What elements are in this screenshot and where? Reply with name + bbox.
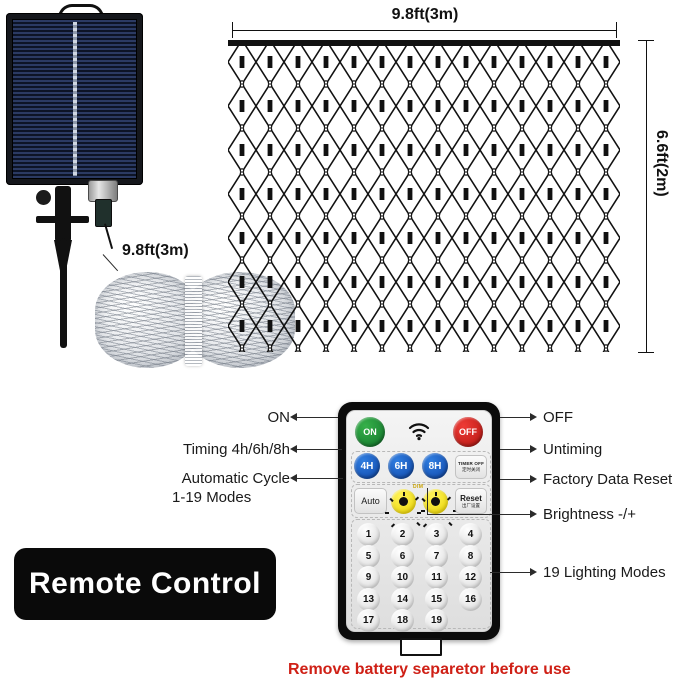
lighting-mode-button-11[interactable]: 11 xyxy=(425,566,448,589)
solar-panel xyxy=(6,13,143,185)
callout-on-arrow xyxy=(290,413,297,421)
callout-off-line xyxy=(500,417,532,418)
lighting-mode-button-label: 16 xyxy=(465,594,476,605)
sun-dim-down-icon xyxy=(399,497,408,506)
lighting-mode-button-19[interactable]: 19 xyxy=(425,609,448,632)
stake-pivot-knob xyxy=(36,190,51,205)
lighting-mode-button-label: 8 xyxy=(468,551,474,562)
callout-brightness-arrow xyxy=(530,510,537,518)
callout-brightness-vline xyxy=(427,488,428,514)
wifi-signal-icon xyxy=(407,421,431,441)
sun-dim-up-icon xyxy=(431,497,440,506)
lighting-mode-button-label: 11 xyxy=(431,572,442,583)
lighting-mode-button-5[interactable]: 5 xyxy=(357,545,380,568)
callout-brightness-line xyxy=(427,514,532,515)
lighting-mode-button-label: 3 xyxy=(434,529,440,540)
callout-auto-cycle-arrow xyxy=(290,474,297,482)
lighting-mode-button-label: 7 xyxy=(434,551,440,562)
lighting-mode-button-17[interactable]: 17 xyxy=(357,609,380,632)
lighting-mode-button-7[interactable]: 7 xyxy=(425,545,448,568)
timer-4h-label: 4H xyxy=(361,461,374,472)
lighting-mode-button-label: 15 xyxy=(431,594,442,605)
lighting-mode-button-label: 2 xyxy=(400,529,406,540)
lighting-mode-button-10[interactable]: 10 xyxy=(391,566,414,589)
lead-cable-length-label: 9.8ft(3m) xyxy=(122,242,189,260)
lighting-mode-button-12[interactable]: 12 xyxy=(459,566,482,589)
ground-stake-shaft xyxy=(55,186,71,242)
callout-factory-reset-line xyxy=(500,479,532,480)
callout-timing-arrow xyxy=(290,445,297,453)
lighting-mode-button-label: 6 xyxy=(400,551,406,562)
lighting-mode-button-label: 4 xyxy=(468,529,474,540)
lighting-mode-button-2[interactable]: 2 xyxy=(391,523,414,546)
lighting-mode-button-1[interactable]: 1 xyxy=(357,523,380,546)
lighting-mode-button-label: 9 xyxy=(366,572,372,583)
callout-brightness: Brightness -/+ xyxy=(543,506,636,525)
battery-separator-warning: Remove battery separetor before use xyxy=(288,661,571,679)
timer-off-label-cn: 定时关闭 xyxy=(462,468,480,473)
remote-control: ON OFF 4H 6H 8H xyxy=(338,402,500,640)
callout-factory-reset-arrow xyxy=(530,475,537,483)
auto-cycle-label: Auto xyxy=(361,496,380,506)
callout-lighting-modes-arrow xyxy=(530,568,537,576)
lighting-mode-button-label: 14 xyxy=(397,594,408,605)
led-net-light-mesh xyxy=(228,40,620,352)
lighting-mode-button-label: 13 xyxy=(363,594,374,605)
power-off-label: OFF xyxy=(459,427,477,437)
lighting-mode-button-label: 18 xyxy=(397,615,408,626)
callout-factory-reset: Factory Data Reset xyxy=(543,471,672,490)
timer-6h-button[interactable]: 6H xyxy=(388,453,414,479)
coil-tie-strap xyxy=(185,276,202,366)
callout-untiming-line xyxy=(500,449,532,450)
dim-group-label: DIM xyxy=(413,484,423,490)
lighting-mode-button-13[interactable]: 13 xyxy=(357,588,380,611)
lighting-mode-button-6[interactable]: 6 xyxy=(391,545,414,568)
timer-off-button[interactable]: TIMER OFF 定时关闭 xyxy=(455,455,487,479)
product-spec-diagram: 9.8ft(3m) 6.6ft(2m) 9.8ft(3m) xyxy=(0,0,679,686)
lighting-mode-button-label: 19 xyxy=(431,615,442,626)
callout-on-line xyxy=(296,417,338,418)
callout-auto-cycle-line xyxy=(296,478,343,479)
lighting-mode-button-9[interactable]: 9 xyxy=(357,566,380,589)
net-height-bottom-cap xyxy=(638,352,654,353)
remote-control-banner-label: Remote Control xyxy=(29,567,261,601)
callout-lighting-modes-line xyxy=(490,572,532,573)
callout-off: OFF xyxy=(543,409,573,428)
net-height-dimension-line xyxy=(646,40,647,352)
remote-control-banner: Remote Control xyxy=(14,548,276,620)
lighting-mode-button-3[interactable]: 3 xyxy=(425,523,448,546)
callout-auto-cycle-line1: Automatic Cycle xyxy=(182,470,290,487)
lighting-mode-button-label: 17 xyxy=(363,615,374,626)
ground-stake-spike xyxy=(60,238,67,348)
solar-panel-cells xyxy=(12,19,137,179)
auto-cycle-button[interactable]: Auto xyxy=(354,488,387,514)
lighting-mode-button-label: 5 xyxy=(366,551,372,562)
factory-reset-button[interactable]: Reset 出厂设置 xyxy=(455,488,487,514)
callout-lighting-modes: 19 Lighting Modes xyxy=(543,564,666,583)
callout-untiming-arrow xyxy=(530,445,537,453)
callout-auto-cycle: Automatic Cycle 1-19 Modes xyxy=(110,470,290,508)
remote-faceplate: ON OFF 4H 6H 8H xyxy=(346,410,492,632)
brightness-down-button[interactable] xyxy=(391,489,416,514)
lighting-mode-button-label: 12 xyxy=(465,572,476,583)
lighting-mode-button-4[interactable]: 4 xyxy=(459,523,482,546)
lighting-mode-button-label: 10 xyxy=(397,572,408,583)
callout-timing-line xyxy=(296,449,342,450)
power-on-label: ON xyxy=(363,427,377,437)
callout-on: ON xyxy=(150,409,290,428)
net-width-left-cap xyxy=(232,22,233,38)
ground-stake-wing xyxy=(36,216,89,223)
timer-6h-label: 6H xyxy=(395,461,408,472)
callout-off-arrow xyxy=(530,413,537,421)
net-width-right-cap xyxy=(616,22,617,38)
timer-8h-label: 8H xyxy=(429,461,442,472)
lighting-mode-button-18[interactable]: 18 xyxy=(391,609,414,632)
net-width-dimension-label: 9.8ft(3m) xyxy=(230,6,620,24)
callout-untiming: Untiming xyxy=(543,441,602,460)
power-on-button[interactable]: ON xyxy=(355,417,385,447)
lighting-mode-button-14[interactable]: 14 xyxy=(391,588,414,611)
power-off-button[interactable]: OFF xyxy=(453,417,483,447)
factory-reset-label-en: Reset xyxy=(460,494,482,503)
net-height-top-cap xyxy=(638,40,654,41)
callout-timing: Timing 4h/6h/8h xyxy=(120,441,290,460)
timer-off-label-en: TIMER OFF xyxy=(458,462,484,467)
timer-4h-button[interactable]: 4H xyxy=(354,453,380,479)
lighting-mode-button-8[interactable]: 8 xyxy=(459,545,482,568)
lead-cable-leader-line xyxy=(103,254,118,271)
timer-8h-button[interactable]: 8H xyxy=(422,453,448,479)
net-height-dimension-label: 6.6ft(2m) xyxy=(670,130,679,148)
lighting-mode-button-16[interactable]: 16 xyxy=(459,588,482,611)
lighting-mode-button-label: 1 xyxy=(366,529,372,540)
connector-boot xyxy=(95,199,112,227)
lead-wire xyxy=(104,223,113,249)
factory-reset-label-cn: 出厂设置 xyxy=(462,504,480,509)
lighting-mode-button-15[interactable]: 15 xyxy=(425,588,448,611)
net-width-dimension-line xyxy=(232,30,617,31)
callout-auto-cycle-line2: 1-19 Modes xyxy=(110,489,290,508)
battery-separator-tab[interactable] xyxy=(400,638,442,656)
solar-panel-busbar xyxy=(73,22,77,176)
